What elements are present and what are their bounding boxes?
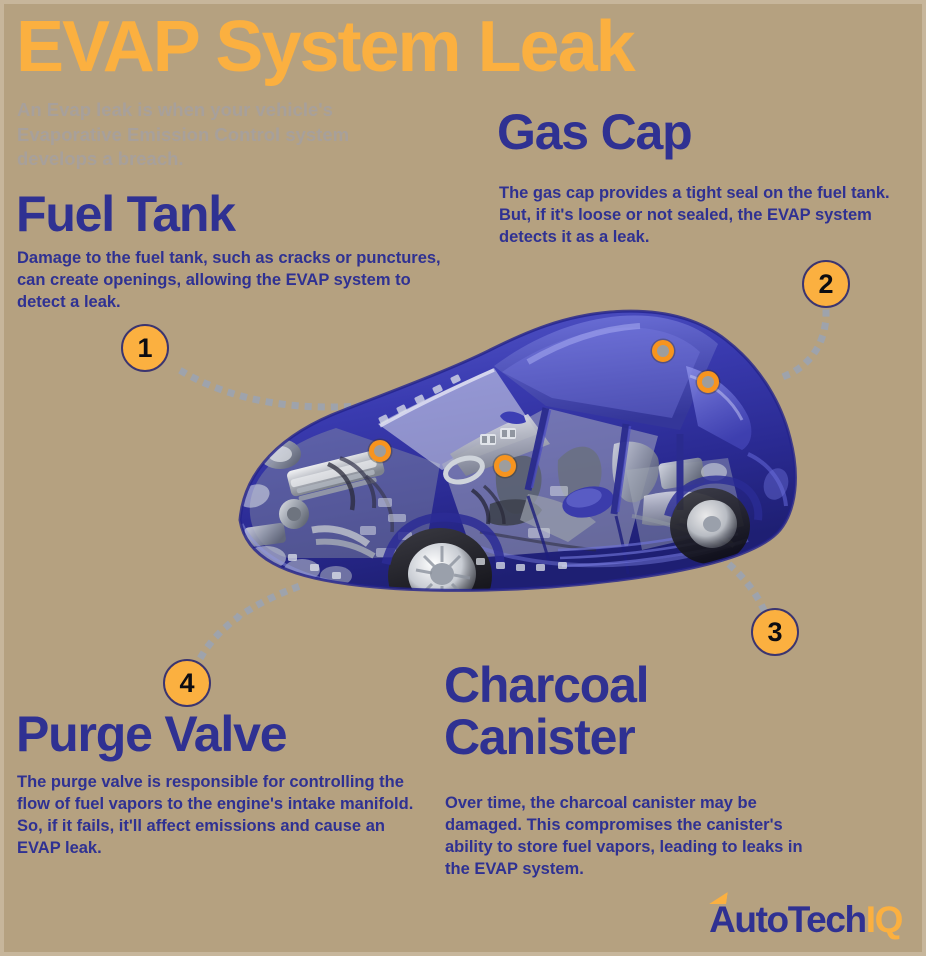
- logo-text-main: utoTech: [734, 901, 865, 938]
- section-heading-gas-cap: Gas Cap: [497, 108, 691, 157]
- badge-2-label: 2: [818, 271, 833, 298]
- logo-letter-a: A: [709, 901, 734, 938]
- autotechiq-logo: AutoTechIQ: [709, 901, 902, 938]
- car-illustration-svg: [228, 258, 808, 648]
- section-heading-purge-valve: Purge Valve: [16, 710, 286, 759]
- marker-gas-cap[interactable]: [697, 371, 719, 393]
- infographic-poster: EVAP System Leak An Evap leak is when yo…: [0, 0, 926, 956]
- section-body-gas-cap: The gas cap provides a tight seal on the…: [499, 183, 919, 249]
- logo-text-iq: IQ: [866, 901, 902, 938]
- page-title: EVAP System Leak: [16, 12, 634, 83]
- badge-4-label: 4: [179, 670, 194, 697]
- section-body-charcoal-canister: Over time, the charcoal canister may be …: [445, 793, 827, 881]
- section-heading-charcoal-canister: Charcoal Canister: [444, 660, 648, 763]
- page-subtitle: An Evap leak is when your vehicle's Evap…: [17, 98, 387, 172]
- section-body-fuel-tank: Damage to the fuel tank, such as cracks …: [17, 248, 442, 314]
- section-heading-fuel-tank: Fuel Tank: [16, 190, 235, 239]
- section-heading-charcoal-canister-line2: Canister: [444, 709, 634, 765]
- front-wheel: [388, 528, 492, 624]
- badge-4-purge-valve[interactable]: 4: [163, 659, 211, 707]
- marker-charcoal-canister[interactable]: [494, 455, 516, 477]
- badge-3-label: 3: [767, 619, 782, 646]
- badge-1-fuel-tank[interactable]: 1: [121, 324, 169, 372]
- marker-purge-valve[interactable]: [369, 440, 391, 462]
- section-heading-charcoal-canister-line1: Charcoal: [444, 657, 648, 713]
- badge-3-charcoal-canister[interactable]: 3: [751, 608, 799, 656]
- section-body-purge-valve: The purge valve is responsible for contr…: [17, 772, 429, 860]
- badge-1-label: 1: [137, 335, 152, 362]
- rear-wheel: [670, 488, 750, 564]
- marker-gas-cap-upper[interactable]: [652, 340, 674, 362]
- badge-2-gas-cap[interactable]: 2: [802, 260, 850, 308]
- car-cutaway-illustration: [228, 258, 808, 648]
